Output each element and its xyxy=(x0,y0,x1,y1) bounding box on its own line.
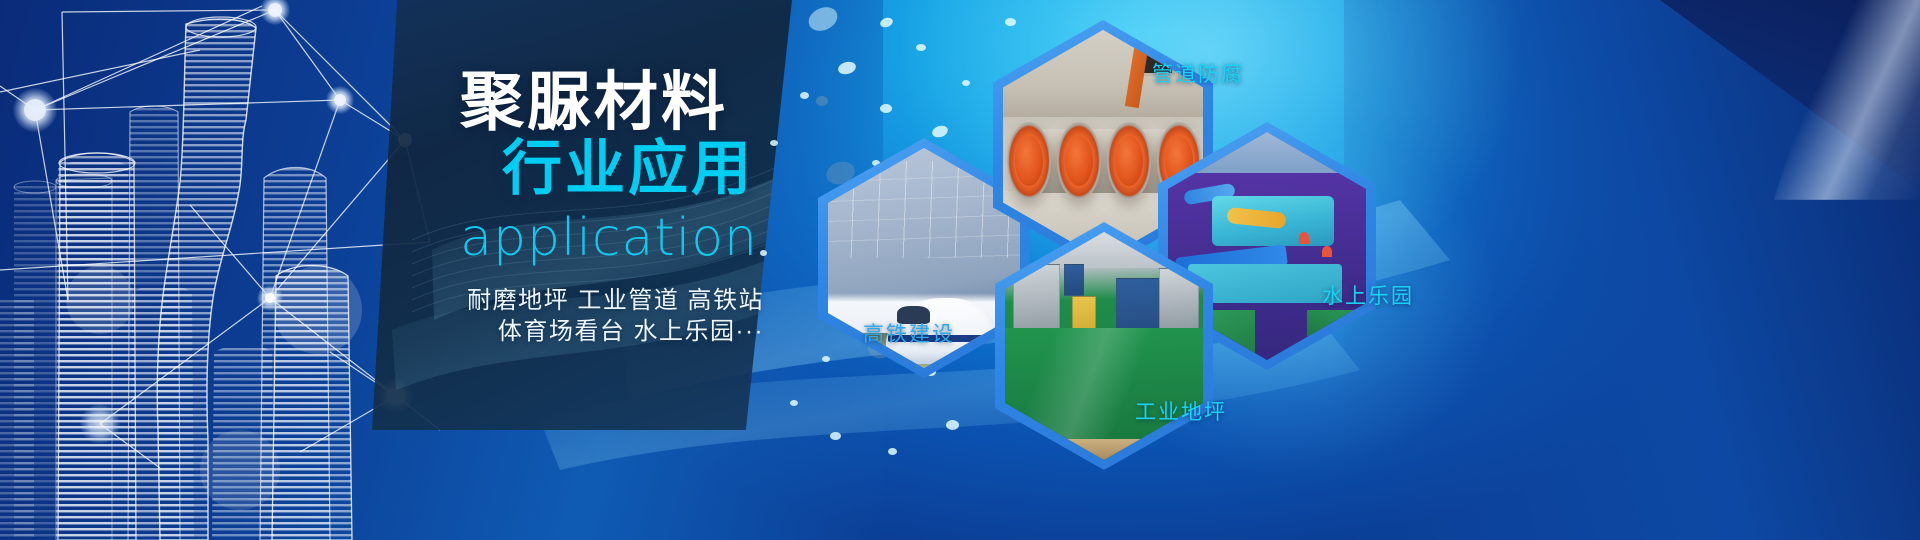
promo-banner: 聚脲材料 行业应用 application 耐磨地坪 工业管道 高铁站 体育场看… xyxy=(0,0,1920,540)
hexagon-label-floor: 工业地坪 xyxy=(1135,396,1227,426)
hexagon-label-pipe: 管道防腐 xyxy=(1152,58,1244,88)
hexagon-cluster: 高铁建设 管道防腐 xyxy=(0,0,1920,540)
hexagon-label-rail: 高铁建设 xyxy=(863,318,955,348)
hexagon-label-water: 水上乐园 xyxy=(1322,280,1414,310)
